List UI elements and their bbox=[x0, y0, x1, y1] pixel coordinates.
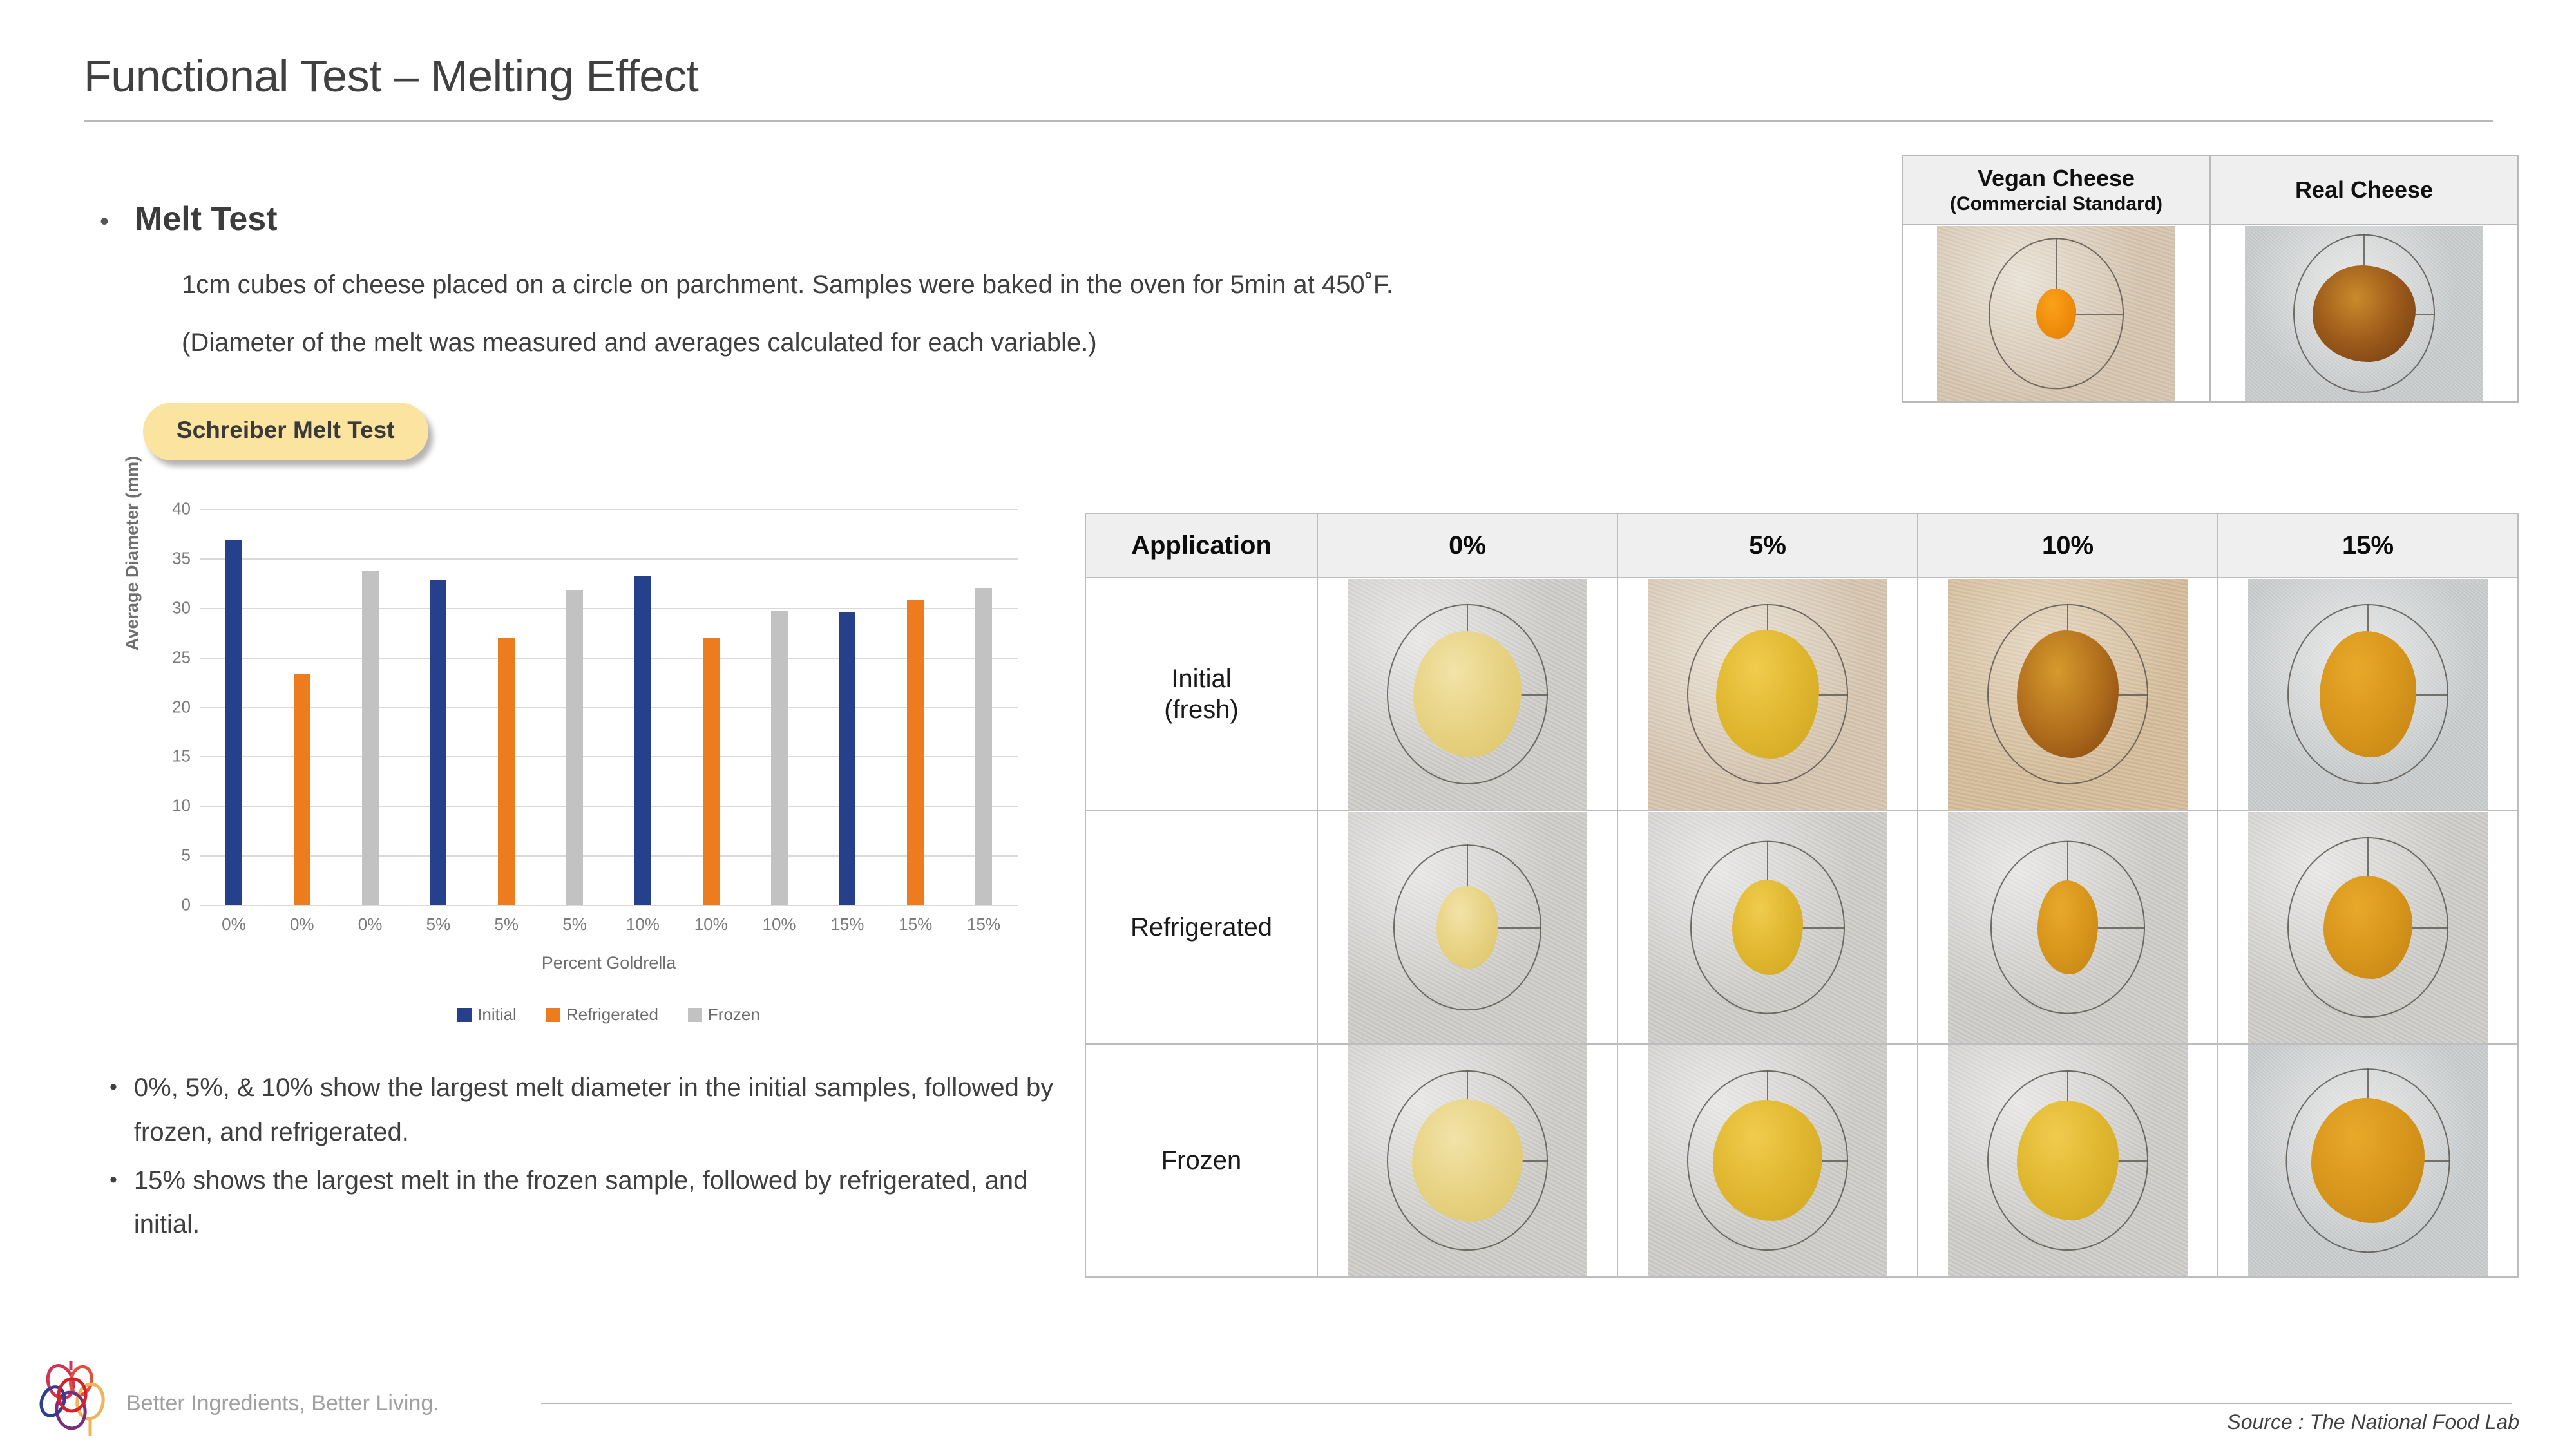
conclusion-item: •15% shows the largest melt in the froze… bbox=[110, 1159, 1076, 1247]
x-axis-tick-label: 5% bbox=[472, 914, 540, 934]
x-axis-tick-label: 10% bbox=[745, 914, 814, 934]
y-axis-tick-label: 20 bbox=[172, 697, 191, 717]
x-axis-tick-label: 5% bbox=[540, 914, 609, 934]
header-vegan-main: Vegan Cheese bbox=[1978, 165, 2135, 191]
melted-cheese-sample bbox=[2017, 1101, 2119, 1220]
photo-cell bbox=[2210, 225, 2518, 402]
bar-slot bbox=[881, 509, 949, 905]
bar-slot bbox=[268, 509, 336, 905]
table-header-row: Application0%5%10%15% bbox=[1085, 513, 2518, 578]
y-axis-tick-label: 0 bbox=[182, 895, 191, 915]
melt-test-bar-chart: Average Diameter (mm) 0510152025303540 0… bbox=[135, 502, 1056, 1037]
row-label-refrigerated: Refrigerated bbox=[1085, 811, 1317, 1044]
bullet-marker-icon: • bbox=[110, 1066, 117, 1155]
bar-refrigerated-15pct bbox=[907, 600, 924, 905]
row-label-frozen: Frozen bbox=[1085, 1044, 1317, 1277]
header-application: Application bbox=[1085, 513, 1317, 578]
header-15pct: 15% bbox=[2218, 513, 2518, 578]
photo-refrigerated-10 bbox=[1948, 812, 2188, 1043]
bar-frozen-15pct bbox=[975, 588, 992, 905]
bar-frozen-5pct bbox=[566, 590, 583, 905]
melt-test-description-line-2: (Diameter of the melt was measured and a… bbox=[182, 328, 1097, 357]
bar-slot bbox=[472, 509, 540, 905]
x-axis-tick-label: 5% bbox=[404, 914, 472, 934]
bar-initial-10pct bbox=[634, 576, 651, 905]
photo-cell bbox=[1918, 1044, 2218, 1277]
chart-y-axis-label: Average Diameter (mm) bbox=[122, 456, 142, 650]
photo-cell bbox=[1902, 225, 2210, 402]
melted-cheese-sample bbox=[2311, 1098, 2425, 1223]
legend-item-frozen: Frozen bbox=[688, 1005, 760, 1025]
photo-cell bbox=[1617, 811, 1918, 1044]
footer-tagline: Better Ingredients, Better Living. bbox=[126, 1391, 439, 1416]
bar-initial-15pct bbox=[839, 612, 855, 905]
row-label-initial: Initial(fresh) bbox=[1085, 578, 1317, 811]
y-axis-tick-label: 10 bbox=[172, 796, 191, 816]
melted-cheese-sample bbox=[1413, 631, 1522, 757]
photo-initial-10 bbox=[1948, 579, 2188, 810]
y-axis-tick-label: 35 bbox=[172, 548, 191, 568]
legend-label: Refrigerated bbox=[566, 1005, 658, 1025]
x-axis-tick-label: 0% bbox=[268, 914, 336, 934]
melted-cheese-sample bbox=[1713, 1100, 1822, 1221]
legend-item-initial: Initial bbox=[457, 1005, 517, 1025]
photo-cell bbox=[1317, 1044, 1617, 1277]
bar-slot bbox=[813, 509, 881, 905]
bar-refrigerated-0pct bbox=[294, 674, 310, 905]
table-row: Frozen bbox=[1085, 1044, 2518, 1277]
melted-cheese-sample bbox=[2320, 631, 2416, 757]
photo-frozen-0 bbox=[1348, 1045, 1587, 1276]
y-axis-tick-label: 15 bbox=[172, 746, 191, 766]
photo-frozen-5 bbox=[1648, 1045, 1887, 1276]
melted-cheese-sample bbox=[2037, 880, 2098, 974]
conclusion-text: 0%, 5%, & 10% show the largest melt diam… bbox=[134, 1066, 1076, 1155]
bar-refrigerated-5pct bbox=[498, 638, 515, 905]
vegan-cheese-photo bbox=[1937, 226, 2175, 401]
bullet-marker-icon: • bbox=[100, 209, 109, 234]
conclusion-item: •0%, 5%, & 10% show the largest melt dia… bbox=[110, 1066, 1076, 1155]
chart-plot-area: 0510152025303540 bbox=[200, 509, 1018, 905]
footer-divider bbox=[541, 1403, 2512, 1404]
legend-swatch bbox=[546, 1008, 560, 1022]
bar-frozen-0pct bbox=[362, 571, 379, 905]
legend-item-refrigerated: Refrigerated bbox=[546, 1005, 658, 1025]
y-axis-tick-label: 30 bbox=[172, 598, 191, 618]
bar-slot bbox=[677, 509, 745, 905]
melt-test-heading: Melt Test bbox=[135, 200, 278, 238]
header-vegan-sub: (Commercial Standard) bbox=[1903, 193, 2209, 215]
photo-cell bbox=[1617, 1044, 1918, 1277]
photo-cell bbox=[2218, 811, 2518, 1044]
bar-slot bbox=[200, 509, 268, 905]
header-real-cheese: Real Cheese bbox=[2210, 155, 2518, 225]
photo-refrigerated-5 bbox=[1648, 812, 1887, 1043]
schreiber-melt-test-badge: Schreiber Melt Test bbox=[143, 402, 428, 460]
source-note: Source : The National Food Lab bbox=[2227, 1410, 2519, 1434]
photo-initial-15 bbox=[2248, 579, 2488, 810]
melted-cheese-sample bbox=[2017, 630, 2119, 758]
melted-cheese-sample bbox=[1732, 880, 1803, 975]
legend-label: Initial bbox=[477, 1005, 517, 1025]
page-title: Functional Test – Melting Effect bbox=[84, 50, 698, 102]
header-10pct: 10% bbox=[1918, 513, 2218, 578]
photo-frozen-10 bbox=[1948, 1045, 2188, 1276]
x-axis-tick-label: 10% bbox=[609, 914, 677, 934]
bar-slot bbox=[949, 509, 1018, 905]
y-axis-tick-label: 5 bbox=[182, 846, 191, 866]
melt-test-bullet: • Melt Test bbox=[100, 200, 278, 238]
header-0pct: 0% bbox=[1317, 513, 1617, 578]
bar-slot bbox=[609, 509, 677, 905]
bar-initial-0pct bbox=[225, 540, 242, 905]
photo-cell bbox=[1317, 578, 1617, 811]
chart-x-axis-ticks: 0%0%0%5%5%5%10%10%10%15%15%15% bbox=[200, 914, 1018, 934]
x-axis-tick-label: 0% bbox=[336, 914, 405, 934]
melted-cheese-sample bbox=[1412, 1099, 1523, 1222]
photo-cell bbox=[1317, 811, 1617, 1044]
chart-bars bbox=[200, 509, 1018, 905]
bar-slot bbox=[336, 509, 405, 905]
melt-results-table: Application0%5%10%15% Initial(fresh)Refr… bbox=[1085, 513, 2519, 1278]
melted-cheese-sample bbox=[1436, 886, 1498, 969]
gridline: 0 bbox=[200, 905, 1018, 906]
cheese-comparison-table: Vegan Cheese (Commercial Standard) Real … bbox=[1902, 155, 2519, 402]
photo-refrigerated-15 bbox=[2248, 812, 2488, 1043]
real-cheese-photo bbox=[2245, 226, 2483, 401]
melted-cheese-sample bbox=[2313, 265, 2416, 362]
photo-cell bbox=[1918, 811, 2218, 1044]
table-row: Refrigerated bbox=[1085, 811, 2518, 1044]
photo-frozen-15 bbox=[2248, 1045, 2488, 1276]
x-axis-tick-label: 15% bbox=[949, 914, 1018, 934]
photo-refrigerated-0 bbox=[1348, 812, 1587, 1043]
bar-frozen-10pct bbox=[771, 611, 788, 905]
bar-slot bbox=[404, 509, 472, 905]
title-divider bbox=[84, 120, 2493, 122]
table-row: Initial(fresh) bbox=[1085, 578, 2518, 811]
bullet-marker-icon: • bbox=[110, 1159, 117, 1247]
legend-swatch bbox=[688, 1008, 702, 1022]
melted-cheese-sample bbox=[2323, 876, 2412, 979]
conclusion-text: 15% shows the largest melt in the frozen… bbox=[134, 1159, 1076, 1247]
melted-cheese-sample bbox=[2036, 289, 2076, 339]
company-logo bbox=[31, 1359, 121, 1441]
y-axis-tick-label: 40 bbox=[172, 499, 191, 519]
legend-swatch bbox=[457, 1008, 472, 1022]
x-axis-tick-label: 15% bbox=[813, 914, 881, 934]
photo-cell bbox=[1617, 578, 1918, 811]
y-axis-tick-label: 25 bbox=[172, 647, 191, 667]
chart-legend: InitialRefrigeratedFrozen bbox=[200, 1005, 1018, 1025]
x-axis-tick-label: 15% bbox=[881, 914, 949, 934]
table-row bbox=[1902, 225, 2518, 402]
melt-test-description-line-1: 1cm cubes of cheese placed on a circle o… bbox=[182, 270, 1393, 299]
bar-refrigerated-10pct bbox=[703, 638, 720, 905]
photo-initial-0 bbox=[1348, 579, 1587, 810]
header-vegan-cheese: Vegan Cheese (Commercial Standard) bbox=[1902, 155, 2210, 225]
bar-slot bbox=[745, 509, 814, 905]
conclusions-list: •0%, 5%, & 10% show the largest melt dia… bbox=[110, 1066, 1076, 1251]
melted-cheese-sample bbox=[1716, 630, 1819, 759]
bar-slot bbox=[540, 509, 609, 905]
x-axis-tick-label: 0% bbox=[200, 914, 268, 934]
legend-label: Frozen bbox=[708, 1005, 760, 1025]
chart-x-axis-label: Percent Goldrella bbox=[200, 953, 1018, 973]
photo-cell bbox=[2218, 578, 2518, 811]
photo-cell bbox=[2218, 1044, 2518, 1277]
bar-initial-5pct bbox=[430, 580, 446, 905]
header-5pct: 5% bbox=[1617, 513, 1918, 578]
photo-cell bbox=[1918, 578, 2218, 811]
x-axis-tick-label: 10% bbox=[677, 914, 745, 934]
table-header-row: Vegan Cheese (Commercial Standard) Real … bbox=[1902, 155, 2518, 225]
photo-initial-5 bbox=[1648, 579, 1887, 810]
